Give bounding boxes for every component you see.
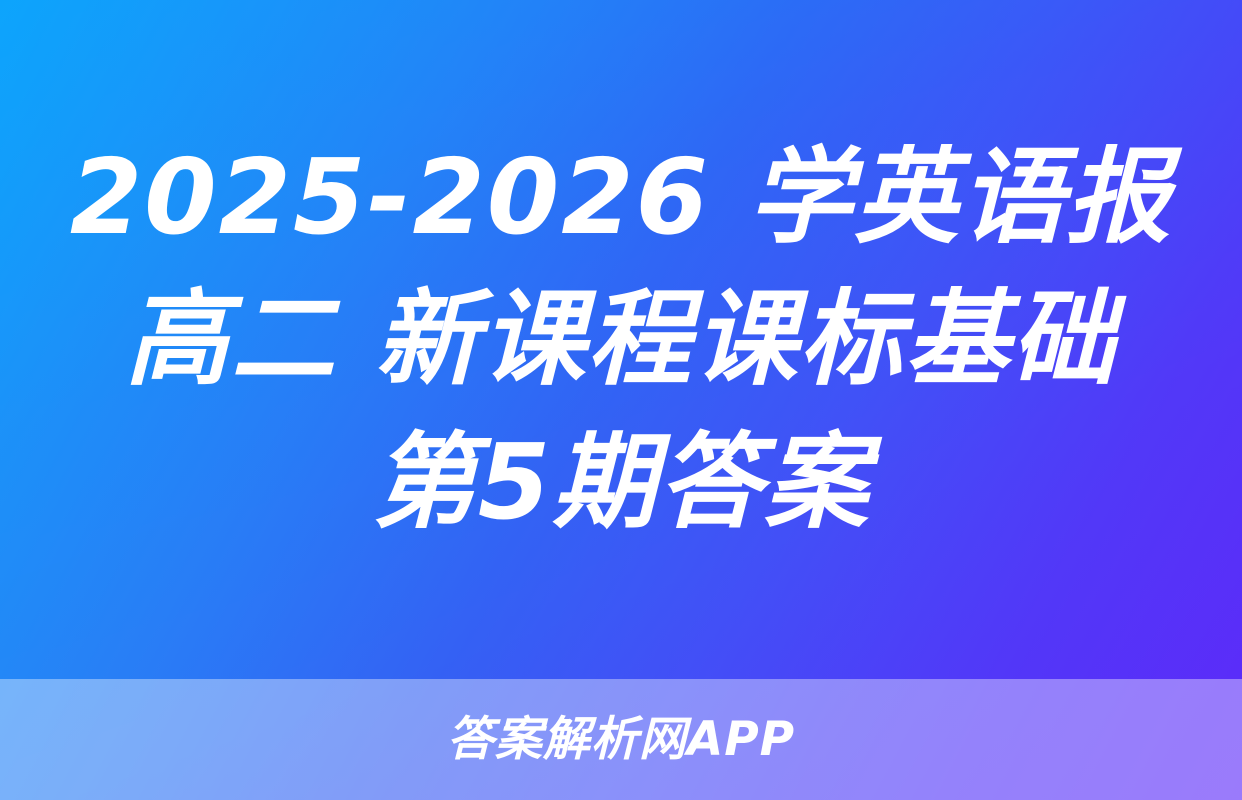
- poster-hero-area: 2025-2026 学英语报 高二 新课程课标基础 第5期答案: [0, 0, 1242, 679]
- app-watermark-label: 答案解析网APP: [447, 716, 795, 763]
- promo-poster: 2025-2026 学英语报 高二 新课程课标基础 第5期答案 答案解析网APP: [0, 0, 1242, 800]
- page-title: 2025-2026 学英语报 高二 新课程课标基础 第5期答案: [66, 126, 1176, 553]
- app-watermark-band: 答案解析网APP: [0, 679, 1242, 800]
